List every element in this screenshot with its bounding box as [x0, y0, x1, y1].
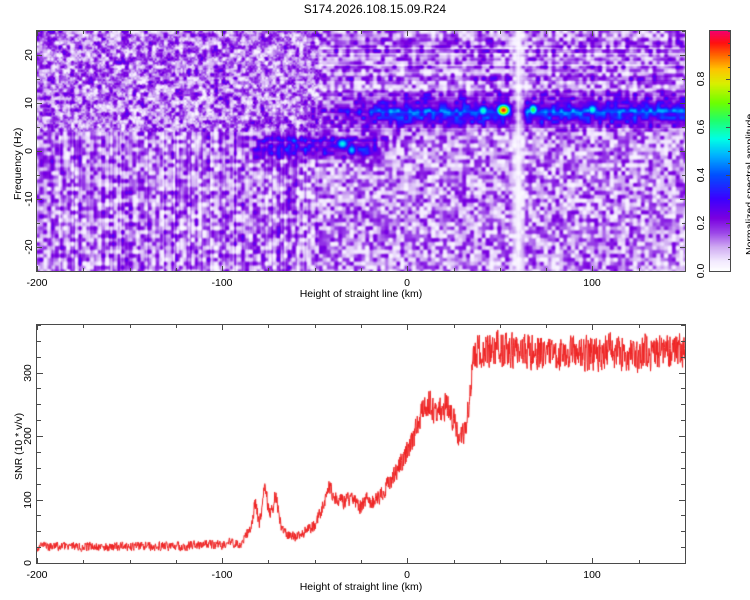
axis-tick	[37, 388, 41, 389]
axis-tick	[37, 325, 41, 326]
axis-tick-label: 0	[22, 560, 34, 566]
axis-tick	[222, 266, 223, 271]
axis-tick	[681, 357, 685, 358]
colorbar-tick-label: 0.6	[695, 120, 707, 135]
axis-tick	[315, 560, 316, 563]
axis-tick	[37, 55, 42, 56]
axis-tick-label: 100	[583, 569, 601, 581]
axis-tick	[728, 31, 730, 32]
axis-tick	[37, 31, 40, 32]
axis-tick	[130, 325, 131, 328]
axis-tick	[315, 325, 316, 328]
axis-tick	[685, 560, 686, 563]
axis-tick	[546, 560, 547, 563]
axis-tick	[546, 268, 547, 271]
figure-title: S174.2026.108.15.09.R24	[0, 2, 750, 16]
axis-tick	[83, 560, 84, 563]
axis-tick	[681, 547, 685, 548]
snr-yaxis-label: SNR (10 * v/v)	[13, 413, 25, 480]
axis-tick	[37, 468, 41, 469]
axis-tick	[268, 31, 269, 34]
axis-tick	[37, 223, 40, 224]
axis-tick	[315, 268, 316, 271]
axis-tick	[728, 103, 730, 104]
axis-tick	[130, 31, 131, 34]
axis-tick	[176, 560, 177, 563]
colorbar-tick-label: 0.8	[695, 72, 707, 87]
axis-tick	[728, 247, 730, 248]
axis-tick	[83, 325, 84, 328]
axis-tick	[268, 325, 269, 328]
axis-tick	[728, 187, 730, 188]
axis-tick	[222, 325, 223, 330]
axis-tick	[268, 560, 269, 563]
axis-tick	[37, 271, 40, 272]
axis-tick	[726, 79, 730, 80]
axis-tick-label: 0	[23, 148, 35, 154]
colorbar-tick-label: 0.2	[695, 216, 707, 231]
axis-tick	[546, 31, 547, 34]
spectrogram-xaxis-label: Height of straight line (km)	[0, 288, 722, 300]
axis-tick	[37, 247, 42, 248]
axis-tick	[500, 325, 501, 328]
axis-tick	[37, 563, 43, 564]
axis-tick	[681, 468, 685, 469]
axis-tick	[37, 452, 41, 453]
axis-tick	[681, 484, 685, 485]
spectrogram-yaxis-label: Frequency (Hz)	[12, 128, 24, 200]
axis-tick	[37, 103, 42, 104]
axis-tick	[685, 31, 686, 34]
axis-tick	[726, 127, 730, 128]
axis-tick	[728, 55, 730, 56]
axis-tick	[681, 341, 685, 342]
axis-tick	[682, 31, 685, 32]
snr-line-plot	[37, 325, 685, 563]
axis-tick-label: -20	[23, 239, 35, 254]
axis-tick	[728, 211, 730, 212]
axis-tick	[726, 223, 730, 224]
axis-tick	[681, 325, 685, 326]
axis-tick-label: -10	[23, 191, 35, 206]
axis-tick	[500, 31, 501, 34]
axis-tick	[37, 515, 41, 516]
axis-tick	[639, 325, 640, 328]
axis-tick-label: 20	[23, 49, 35, 61]
axis-tick	[454, 560, 455, 563]
colorbar-gradient	[710, 31, 730, 271]
axis-tick	[639, 31, 640, 34]
axis-tick	[407, 266, 408, 271]
axis-tick	[407, 31, 408, 36]
axis-tick	[726, 175, 730, 176]
axis-tick	[361, 268, 362, 271]
axis-tick	[681, 404, 685, 405]
axis-tick-label: 300	[22, 364, 34, 382]
axis-tick	[682, 271, 685, 272]
axis-tick	[222, 558, 223, 563]
axis-tick	[37, 357, 41, 358]
axis-tick	[37, 151, 42, 152]
axis-tick	[679, 500, 685, 501]
axis-tick	[37, 404, 41, 405]
axis-tick	[37, 373, 43, 374]
axis-tick	[681, 452, 685, 453]
axis-tick-label: -200	[26, 569, 47, 581]
axis-tick-label: 10	[23, 97, 35, 109]
axis-tick	[680, 103, 685, 104]
axis-tick	[685, 325, 686, 328]
axis-tick	[37, 484, 41, 485]
axis-tick	[176, 268, 177, 271]
axis-tick	[728, 151, 730, 152]
axis-tick	[130, 560, 131, 563]
axis-tick	[37, 341, 41, 342]
axis-tick	[268, 268, 269, 271]
axis-tick	[500, 560, 501, 563]
axis-tick	[679, 436, 685, 437]
axis-tick	[728, 43, 730, 44]
axis-tick	[37, 79, 40, 80]
colorbar-tick-label: 0.4	[695, 168, 707, 183]
axis-tick	[728, 67, 730, 68]
axis-tick	[728, 235, 730, 236]
axis-tick	[681, 420, 685, 421]
axis-tick	[680, 151, 685, 152]
axis-tick	[592, 325, 593, 330]
axis-tick	[639, 268, 640, 271]
axis-tick	[728, 115, 730, 116]
axis-tick-label: 100	[22, 491, 34, 509]
axis-tick	[176, 31, 177, 34]
axis-tick	[37, 547, 41, 548]
axis-tick	[592, 558, 593, 563]
axis-tick	[37, 436, 43, 437]
axis-tick	[315, 31, 316, 34]
axis-tick	[680, 199, 685, 200]
axis-tick	[500, 268, 501, 271]
axis-tick	[222, 31, 223, 36]
axis-tick	[37, 500, 43, 501]
axis-tick	[83, 31, 84, 34]
axis-tick	[680, 55, 685, 56]
axis-tick	[592, 266, 593, 271]
axis-tick	[546, 325, 547, 328]
axis-tick	[361, 31, 362, 34]
axis-tick	[681, 388, 685, 389]
axis-tick	[37, 420, 41, 421]
axis-tick-label: -100	[211, 569, 232, 581]
axis-tick	[681, 531, 685, 532]
axis-tick	[685, 268, 686, 271]
axis-tick	[728, 91, 730, 92]
axis-tick	[83, 268, 84, 271]
axis-tick	[682, 79, 685, 80]
axis-tick	[680, 247, 685, 248]
axis-tick	[682, 223, 685, 224]
axis-tick	[728, 259, 730, 260]
axis-tick	[37, 531, 41, 532]
axis-tick	[130, 268, 131, 271]
axis-tick	[728, 163, 730, 164]
figure-canvas: S174.2026.108.15.09.R24 -200-10001002010…	[0, 0, 750, 600]
axis-tick	[361, 325, 362, 328]
colorbar-label: Normalized spectral amplitude	[744, 114, 750, 255]
axis-tick	[681, 515, 685, 516]
axis-tick	[454, 325, 455, 328]
axis-tick-label: 0	[404, 569, 410, 581]
axis-tick	[37, 127, 40, 128]
axis-tick	[728, 139, 730, 140]
spectrogram-image	[37, 31, 685, 271]
axis-tick	[361, 560, 362, 563]
snr-xaxis-label: Height of straight line (km)	[0, 581, 722, 593]
axis-tick	[728, 199, 730, 200]
axis-tick	[726, 271, 730, 272]
axis-tick	[407, 558, 408, 563]
axis-tick	[454, 31, 455, 34]
axis-tick	[454, 268, 455, 271]
axis-tick	[37, 199, 42, 200]
axis-tick	[679, 563, 685, 564]
axis-tick	[37, 175, 40, 176]
axis-tick	[407, 325, 408, 330]
axis-tick	[639, 560, 640, 563]
axis-tick	[176, 325, 177, 328]
axis-tick	[592, 31, 593, 36]
axis-tick	[682, 127, 685, 128]
axis-tick	[679, 373, 685, 374]
axis-tick	[682, 175, 685, 176]
colorbar-tick-label: 0.0	[695, 264, 707, 279]
